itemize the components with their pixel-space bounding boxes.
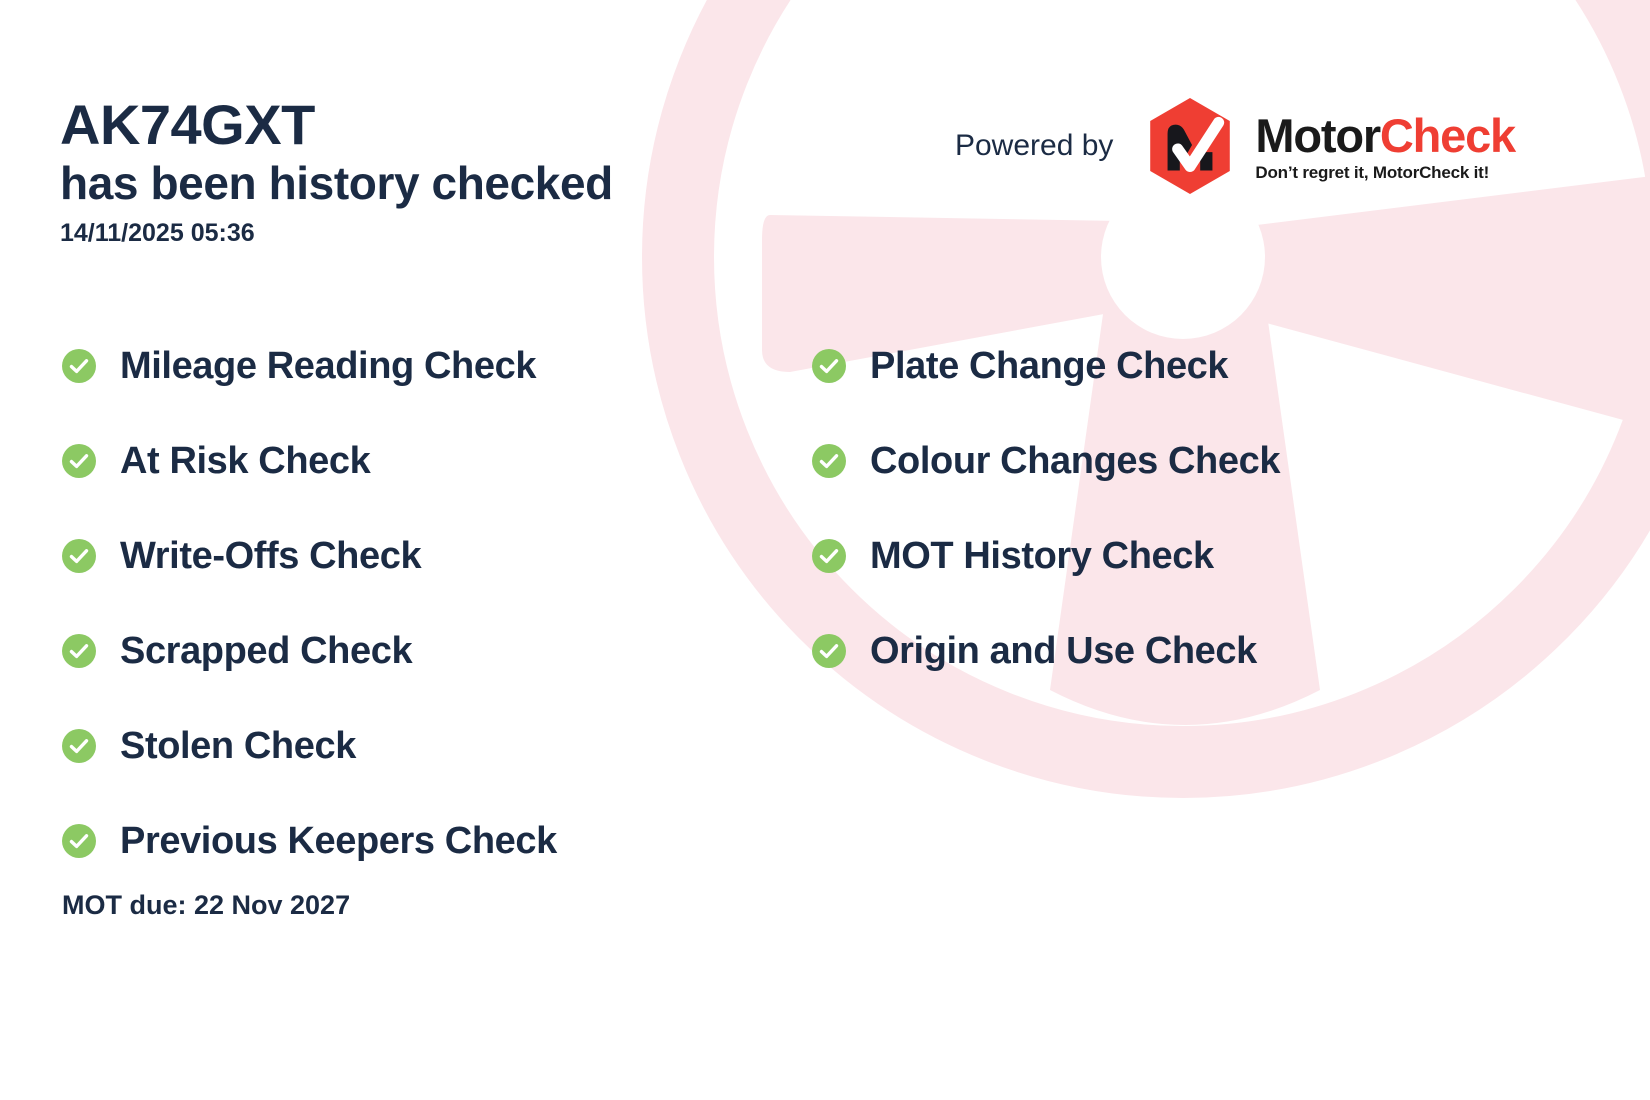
powered-by-label: Powered by bbox=[955, 129, 1113, 163]
status-headline: has been history checked bbox=[60, 157, 613, 210]
check-item-label: MOT History Check bbox=[870, 537, 1214, 575]
brand-name-motor: Motor bbox=[1255, 112, 1380, 159]
check-item: Colour Changes Check bbox=[812, 413, 1532, 508]
brand-tagline: Don’t regret it, MotorCheck it! bbox=[1255, 164, 1515, 181]
motorcheck-logo[interactable]: MotorCheck Don’t regret it, MotorCheck i… bbox=[1139, 95, 1515, 197]
check-item-label: Origin and Use Check bbox=[870, 632, 1257, 670]
check-item: MOT History Check bbox=[812, 508, 1532, 603]
check-item-label: Colour Changes Check bbox=[870, 442, 1280, 480]
check-item-label: Scrapped Check bbox=[120, 632, 412, 670]
check-circle-icon bbox=[62, 444, 96, 478]
check-item: Scrapped Check bbox=[62, 603, 762, 698]
check-item-label: Write-Offs Check bbox=[120, 537, 421, 575]
checked-timestamp: 14/11/2025 05:36 bbox=[60, 219, 613, 248]
check-item-label: Plate Change Check bbox=[870, 347, 1228, 385]
check-circle-icon bbox=[812, 444, 846, 478]
check-circle-icon bbox=[62, 539, 96, 573]
check-item: Stolen Check bbox=[62, 698, 762, 793]
check-item: Mileage Reading Check bbox=[62, 318, 762, 413]
motorcheck-hexagon-icon bbox=[1139, 95, 1241, 197]
brand-block: Powered by MotorCheck Don’t regret it, M… bbox=[955, 95, 1515, 197]
check-item-label: Stolen Check bbox=[120, 727, 356, 765]
mot-due-date: MOT due: 22 Nov 2027 bbox=[62, 890, 350, 921]
check-circle-icon bbox=[62, 349, 96, 383]
vehicle-history-check-card: AK74GXT has been history checked 14/11/2… bbox=[0, 0, 1650, 1100]
check-circle-icon bbox=[62, 729, 96, 763]
brand-name-check: Check bbox=[1380, 112, 1515, 159]
check-item-label: At Risk Check bbox=[120, 442, 370, 480]
checks-column-left: Mileage Reading Check At Risk Check Writ… bbox=[62, 318, 762, 888]
registration-plate: AK74GXT bbox=[60, 95, 613, 155]
brand-wordmark: MotorCheck Don’t regret it, MotorCheck i… bbox=[1255, 112, 1515, 181]
check-item: Plate Change Check bbox=[812, 318, 1532, 413]
brand-name: MotorCheck bbox=[1255, 112, 1515, 159]
check-item-label: Previous Keepers Check bbox=[120, 822, 557, 860]
check-item-label: Mileage Reading Check bbox=[120, 347, 536, 385]
header-block: AK74GXT has been history checked 14/11/2… bbox=[60, 95, 613, 248]
check-circle-icon bbox=[812, 539, 846, 573]
check-circle-icon bbox=[62, 634, 96, 668]
check-item: At Risk Check bbox=[62, 413, 762, 508]
check-item: Write-Offs Check bbox=[62, 508, 762, 603]
check-item: Previous Keepers Check bbox=[62, 793, 762, 888]
checks-column-right: Plate Change Check Colour Changes Check … bbox=[812, 318, 1532, 698]
check-circle-icon bbox=[812, 349, 846, 383]
check-circle-icon bbox=[812, 634, 846, 668]
check-circle-icon bbox=[62, 824, 96, 858]
check-item: Origin and Use Check bbox=[812, 603, 1532, 698]
